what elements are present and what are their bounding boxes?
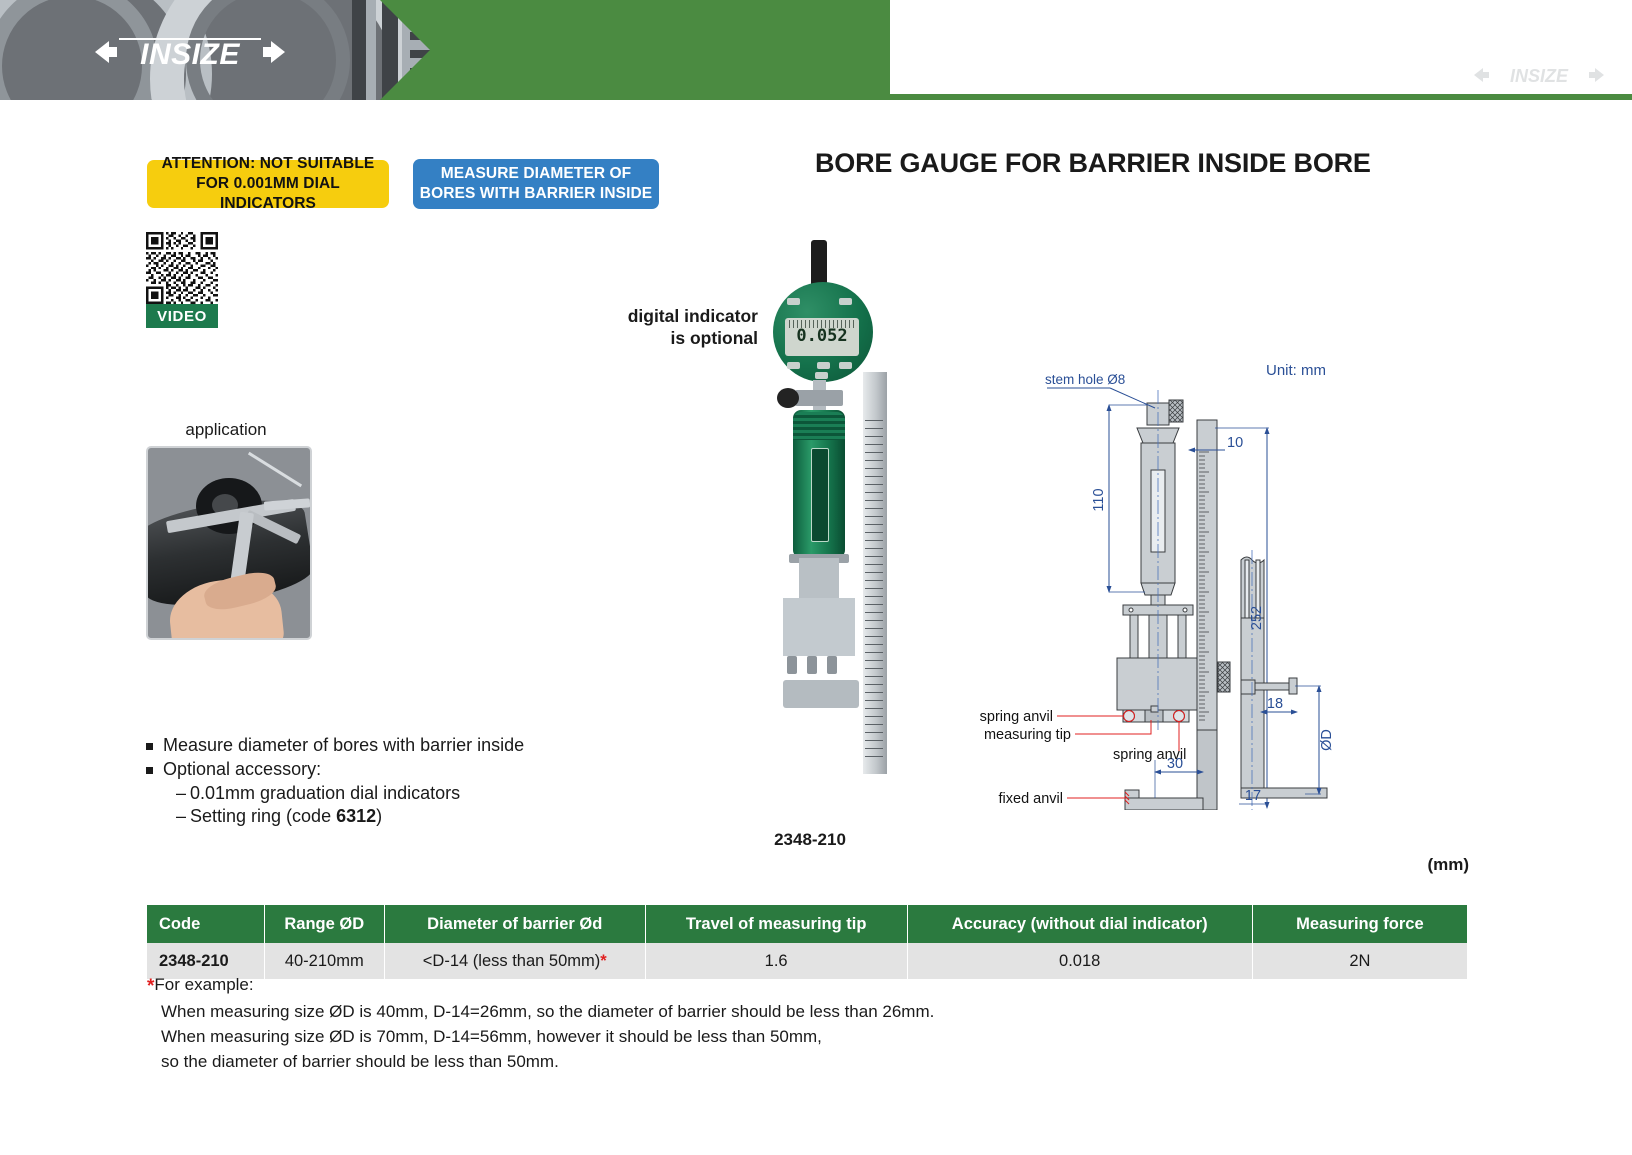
badge-measure: MEASURE DIAMETER OF BORES WITH BARRIER I… [413,159,659,209]
footnote-line-1: When measuring size ØD is 40mm, D-14=26m… [147,999,1487,1024]
application-label: application [146,420,306,440]
feature-sub-item-2: –Setting ring (code 6312) [146,806,666,827]
drawing-label-17: 17 [1245,788,1261,804]
column-header-measuring-force: Measuring force [1252,905,1467,943]
feature-item-2: Optional accessory: [146,759,666,780]
indicator-button-start [787,362,800,369]
product-photo: 0.052 [735,240,915,800]
product-spring-anvil-right [827,656,837,674]
product-scale-ticks [865,420,883,760]
dash-icon: – [176,806,190,827]
feature-sub-item-2-code: 6312 [336,806,376,826]
optional-note-line2: is optional [548,327,758,349]
product-fixed-anvil-foot [783,680,859,708]
feature-item-1-label: Measure diameter of bores with barrier i… [163,735,524,756]
dash-icon: – [176,783,190,804]
video-qr-block[interactable]: VIDEO [146,232,218,332]
footnote-lead: For example: [154,975,253,994]
indicator-button-tolerance [839,362,852,369]
drawing-label-18: 18 [1267,696,1283,712]
insize-watermark-logo: INSIZE [1474,62,1604,88]
page-title: BORE GAUGE FOR BARRIER INSIDE BORE [815,148,1615,179]
product-body [799,558,839,600]
drawing-label-10: 10 [1227,435,1243,451]
table-unit-note: (mm) [1427,855,1469,875]
drawing-label-od: ØD [1319,729,1335,751]
feature-item-1: Measure diameter of bores with barrier i… [146,735,666,756]
footnote-lead-line: *For example: [147,972,1487,999]
svg-text:INSIZE: INSIZE [140,38,240,71]
footnote-block: *For example: When measuring size ØD is … [147,972,1487,1074]
bullet-square-icon [146,767,153,774]
badge-measure-line1: MEASURE DIAMETER OF [420,164,652,184]
product-grip-rings [793,412,845,440]
drawing-label-sa1: spring anvil [980,709,1053,725]
product-caption: 2348-210 [700,830,920,850]
footnote-line-3: so the diameter of barrier should be les… [147,1049,1487,1074]
video-label[interactable]: VIDEO [146,304,218,328]
indicator-button-origin [787,298,800,305]
digital-indicator-optional-note: digital indicator is optional [548,305,758,349]
qr-code-icon[interactable] [146,232,218,304]
column-header-code: Code [147,905,264,943]
feature-item-2-label: Optional accessory: [163,759,321,780]
indicator-button-data [839,298,852,305]
optional-note-line1: digital indicator [548,305,758,327]
product-spring-anvil-left [787,656,797,674]
drawing-label-fa: fixed anvil [999,791,1063,807]
feature-sub-item-1-label: 0.01mm graduation dial indicators [190,783,460,803]
page-header: INSIZE INSIZE [0,0,1632,108]
drawing-label-sa2: spring anvil [1113,747,1186,763]
feature-list: Measure diameter of bores with barrier i… [146,735,666,829]
badge-attention-line1: ATTENTION: NOT SUITABLE [147,154,389,174]
drawing-label-110: 110 [1091,488,1107,511]
badge-attention: ATTENTION: NOT SUITABLE FOR 0.001MM DIAL… [147,160,389,208]
product-clamp-knob [777,388,799,408]
application-photo [146,446,312,640]
indicator-reading: 0.052 [785,326,859,346]
product-grip-label [811,448,829,542]
column-header-range: Range ØD [264,905,384,943]
product-measuring-tip [807,656,817,674]
cell-barrier-diameter-text: <D-14 (less than 50mm) [423,952,600,970]
insize-logo: INSIZE [95,30,285,74]
product-clamp [795,390,843,406]
badge-attention-line2: FOR 0.001MM DIAL INDICATORS [147,174,389,214]
feature-sub-item-2-pre: Setting ring (code [190,806,336,826]
product-measuring-block [783,598,855,656]
specification-table: Code Range ØD Diameter of barrier Ød Tra… [147,905,1467,979]
badge-measure-line2: BORES WITH BARRIER INSIDE [420,184,652,204]
technical-drawing: stem hole Ø8 110 10 252 30 18 17 ØD spri… [975,360,1395,810]
table-header-row: Code Range ØD Diameter of barrier Ød Tra… [147,905,1467,943]
drawing-label-252: 252 [1249,606,1265,630]
column-header-barrier-diameter: Diameter of barrier Ød [384,905,645,943]
column-header-accuracy: Accuracy (without dial indicator) [907,905,1252,943]
footnote-line-2: When measuring size ØD is 70mm, D-14=56m… [147,1024,1487,1049]
indicator-button-inout [817,362,830,369]
svg-text:INSIZE: INSIZE [1510,66,1569,86]
asterisk-marker: * [600,952,606,970]
column-header-travel: Travel of measuring tip [645,905,907,943]
feature-sub-item-1: –0.01mm graduation dial indicators [146,783,666,804]
bullet-square-icon [146,743,153,750]
drawing-label-mt: measuring tip [984,727,1071,743]
feature-sub-item-2-post: ) [376,806,382,826]
drawing-label-stem: stem hole Ø8 [1045,372,1125,387]
indicator-button-bottom [815,372,828,379]
header-green-strip [890,94,1632,100]
